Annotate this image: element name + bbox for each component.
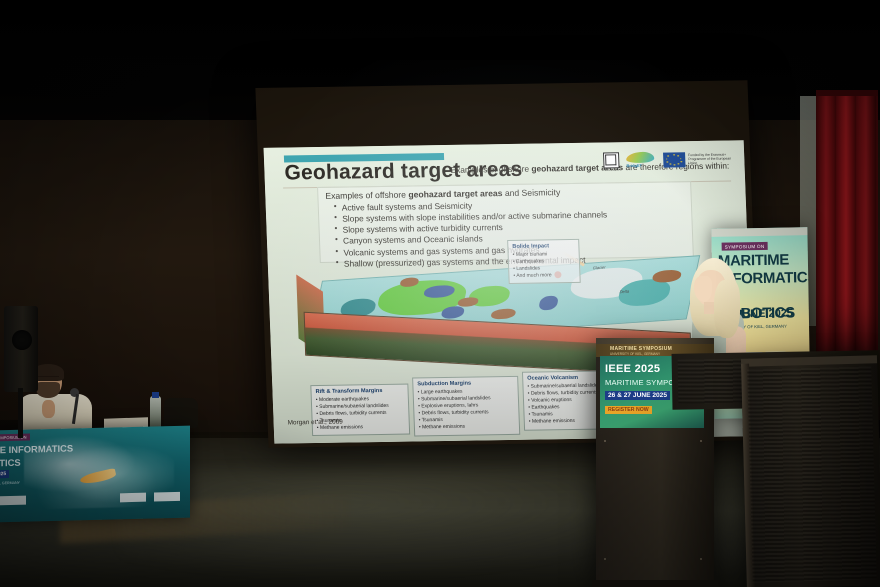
water-bottle bbox=[150, 396, 161, 428]
list-item: Methane emissions bbox=[419, 423, 515, 432]
info-box-list: Major tsunami Earthquakes Landslides And… bbox=[513, 251, 576, 280]
slide-bullet-list: Active fault systems and Seismicity Slop… bbox=[326, 197, 669, 270]
pa-speaker-right bbox=[741, 360, 880, 587]
banner-eyebrow: SYMPOSIUM ON bbox=[722, 242, 768, 251]
water-bottle-cap bbox=[152, 392, 159, 398]
pa-speaker-left bbox=[4, 306, 38, 392]
table-banner-eyebrow: SYMPOSIUM ON bbox=[0, 434, 30, 442]
eu-funding-logo: Funded by the Erasmus+ Programme of the … bbox=[663, 151, 733, 167]
info-box-title: Rift & Transform Margins bbox=[315, 388, 403, 395]
slide-bullets: Examples of offshore geohazard target ar… bbox=[325, 186, 668, 270]
lectern-base bbox=[592, 580, 720, 587]
panelist-hand bbox=[42, 400, 55, 418]
presenter-hair-back bbox=[714, 280, 740, 338]
banner-top-rail bbox=[711, 227, 807, 237]
list-item: And much more bbox=[513, 272, 575, 280]
pa-speaker-stand bbox=[18, 388, 23, 438]
red-stage-curtain bbox=[816, 96, 878, 364]
diagram-patch-island3 bbox=[490, 308, 516, 320]
pa-speaker-left-cone bbox=[12, 330, 32, 350]
bridget-swoosh-icon bbox=[626, 152, 654, 163]
lectern-sign-line3: 26 & 27 JUNE 2025 bbox=[605, 391, 670, 400]
info-box-list: Large earthquakes Submarine/subaerial la… bbox=[418, 388, 516, 432]
info-box-title: Subduction Margins bbox=[417, 380, 513, 388]
diagram-patch-basin3 bbox=[538, 295, 559, 310]
lectern-sign-line4: REGISTER NOW bbox=[605, 406, 652, 414]
table-banner-line2: OTICS bbox=[0, 457, 21, 469]
info-box-list: Moderate earthquakes Submarine/subaerial… bbox=[316, 396, 405, 433]
table-bag bbox=[164, 398, 198, 428]
lectern-sign-line1: IEEE 2025 bbox=[605, 363, 660, 375]
presenter-face bbox=[694, 276, 712, 302]
institute-logo-icon bbox=[603, 152, 620, 168]
bridget-logo: BridgET bbox=[626, 152, 657, 168]
lead-pre: Examples of offshore bbox=[325, 190, 408, 201]
slide-subtitle-pre: Examples of offshore bbox=[450, 164, 531, 175]
info-box-rift-transform-margins: Rift & Transform Margins Moderate earthq… bbox=[310, 384, 410, 437]
panelist-glasses bbox=[36, 376, 59, 381]
panelist-beard bbox=[36, 382, 60, 398]
slide-citation: Morgan et al., 2009 bbox=[288, 419, 343, 427]
lead-post: and Seismicity bbox=[502, 187, 560, 198]
head-table-banner: SYMPOSIUM ON ME INFORMATICS OTICS 2025 K… bbox=[0, 426, 190, 523]
slide-logo-row: BICELLA BridgET Fu bbox=[603, 150, 733, 168]
pa-speaker-right-grille bbox=[747, 366, 877, 582]
table-banner-date: 2025 bbox=[0, 470, 9, 478]
info-box-bolide: Bolide Impact Major tsunami Earthquakes … bbox=[507, 239, 581, 284]
bridget-logo-label: BridgET bbox=[626, 163, 642, 168]
conference-photo: Geohazard target areas Examples of offsh… bbox=[0, 0, 880, 587]
eu-flag-icon bbox=[663, 152, 686, 167]
table-banner-location: KIEL, GERMANY bbox=[0, 481, 20, 486]
eu-funding-text: Funded by the Erasmus+ Programme of the … bbox=[688, 152, 732, 165]
lead-bold: geohazard target areas bbox=[408, 188, 502, 199]
info-box-title: Bolide Impact bbox=[512, 243, 574, 250]
diagram-label-glacier: Glacier bbox=[592, 264, 606, 270]
diagram-label-delta: Delta bbox=[619, 289, 630, 295]
institute-logo-label: BICELLA bbox=[604, 167, 620, 171]
table-banner-line1: ME INFORMATICS bbox=[0, 442, 73, 455]
info-box-subduction-margins: Subduction Margins Large earthquakes Sub… bbox=[412, 376, 520, 436]
